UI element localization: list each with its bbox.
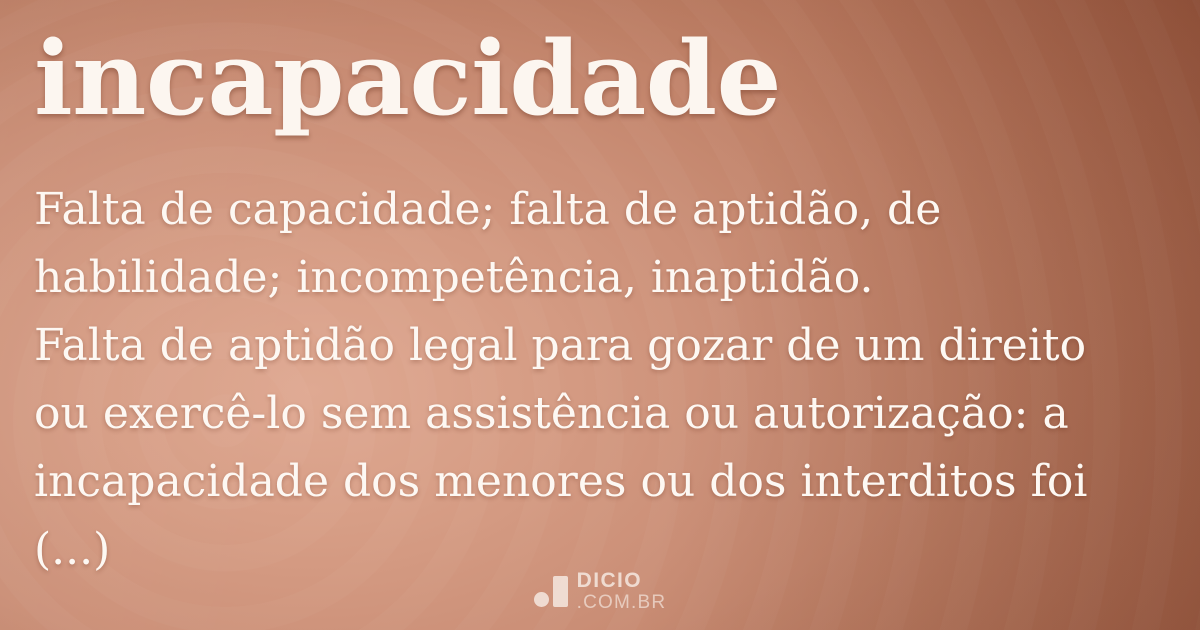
logo-wordmark: DICIO .COM.BR <box>577 570 667 612</box>
page-title: incapacidade <box>34 24 781 134</box>
definition-line: Falta de aptidão legal para gozar de um … <box>34 312 1174 380</box>
card-content: incapacidade Falta de capacidade; falta … <box>0 0 1200 630</box>
site-logo: DICIO .COM.BR <box>0 570 1200 612</box>
circle-dot-icon <box>534 592 549 607</box>
logo-name: DICIO <box>577 570 667 591</box>
logo-tld: .COM.BR <box>577 593 667 612</box>
definition-line: ou exercê-lo sem assistência ou autoriza… <box>34 380 1174 448</box>
definition-line: habilidade; incompetência, inaptidão. <box>34 244 1174 312</box>
rounded-bar-icon <box>553 576 568 607</box>
definition-line: Falta de capacidade; falta de aptidão, d… <box>34 176 1174 244</box>
definition-line: incapacidade dos menores ou dos interdit… <box>34 448 1174 516</box>
logo-mark <box>534 575 568 607</box>
definition-text: Falta de capacidade; falta de aptidão, d… <box>34 176 1174 584</box>
dictionary-share-card: incapacidade Falta de capacidade; falta … <box>0 0 1200 630</box>
